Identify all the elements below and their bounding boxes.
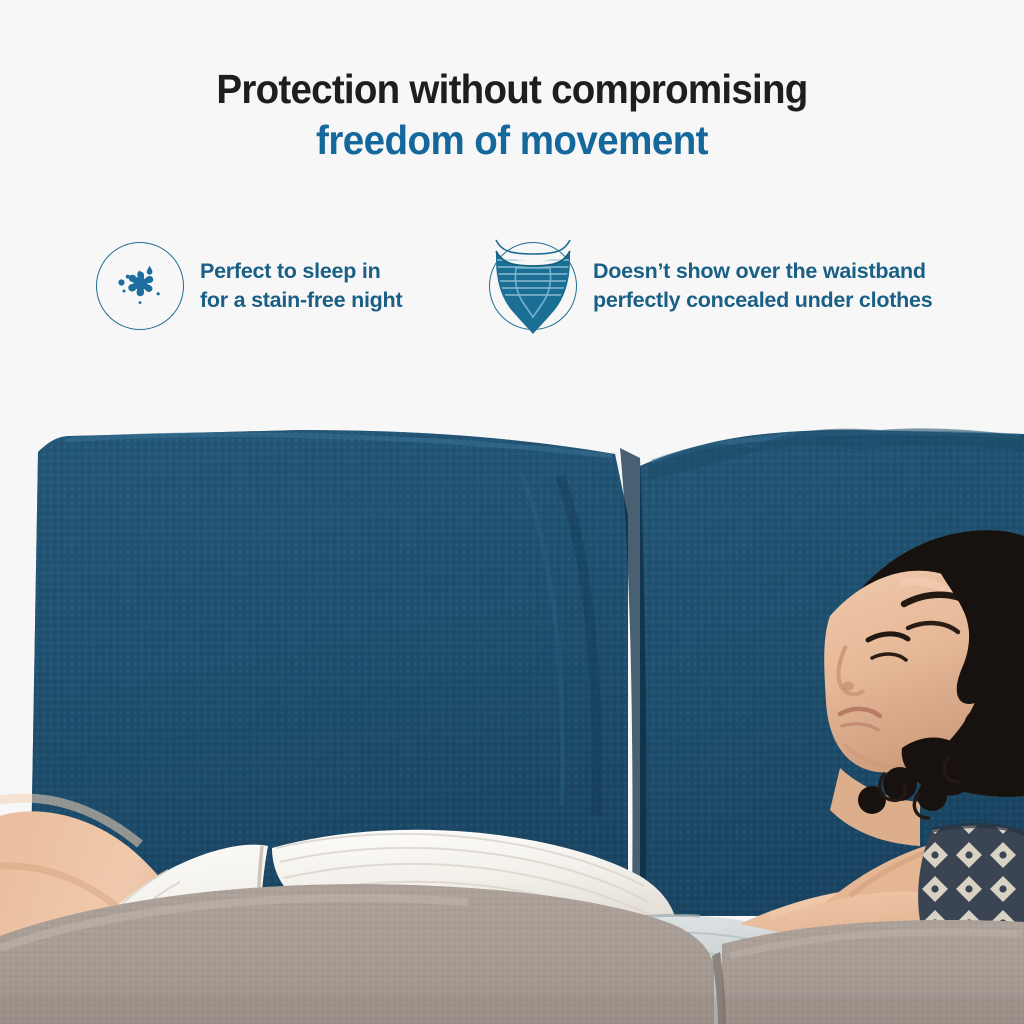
feature-line-1: Perfect to sleep in xyxy=(200,257,402,286)
splash-droplet-icon xyxy=(112,257,168,315)
photo-illustration xyxy=(0,396,1024,1024)
feature-line-2: for a stain-free night xyxy=(200,286,402,315)
headline-line-1: Protection without compromising xyxy=(31,68,994,110)
feature-line-1: Doesn’t show over the waistband xyxy=(593,257,932,286)
page-title: Protection without compromising freedom … xyxy=(0,68,1024,161)
feature-list: Perfect to sleep in for a stain-free nig… xyxy=(0,238,1024,342)
feature-icon-circle xyxy=(96,242,184,330)
feature-icon-circle xyxy=(489,242,577,330)
feature-item-concealed: Doesn’t show over the waistband perfectl… xyxy=(489,242,932,330)
feature-line-2: perfectly concealed under clothes xyxy=(593,286,932,315)
product-lifestyle-photo xyxy=(0,396,1024,1024)
absorbent-brief-underwear-icon xyxy=(490,238,576,334)
feature-text: Doesn’t show over the waistband perfectl… xyxy=(593,257,932,314)
ad-creative: Protection without compromising freedom … xyxy=(0,0,1024,1024)
feature-item-sleep: Perfect to sleep in for a stain-free nig… xyxy=(96,242,402,330)
feature-text: Perfect to sleep in for a stain-free nig… xyxy=(200,257,402,314)
headline-line-2: freedom of movement xyxy=(31,119,994,161)
